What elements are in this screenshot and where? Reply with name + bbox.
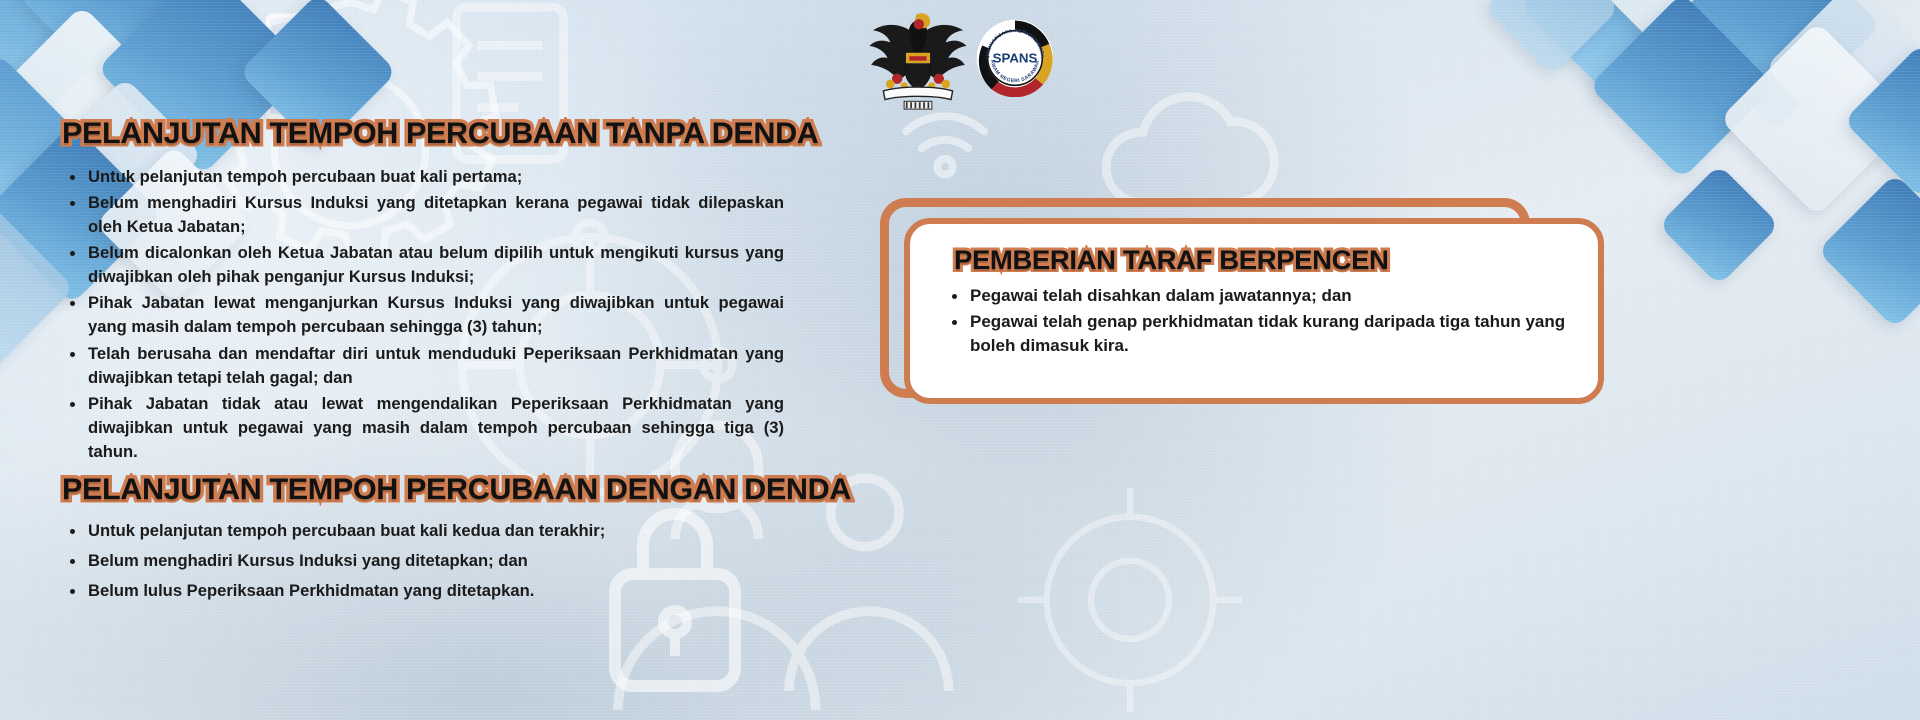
decor-diamond [0,0,135,129]
heading-pemberian-taraf-berpencen: PEMBERIAN TARAF BERPENCEN [954,246,1389,274]
server-rack-icon [258,6,378,126]
sarawak-state-crest-logo [866,6,970,110]
heading-pelanjutan-dengan-denda: PELANJUTAN TEMPOH PERCUBAAN DENGAN DENDA [62,474,851,505]
decor-diamond [1600,0,1775,78]
decor-diamond [1764,0,1920,156]
logo-row: SURUHANJAYA PERKHIDMATAN AWAM NEGERI SAR… [866,6,1054,110]
list-item: Pihak Jabatan tidak atau lewat mengendal… [62,392,784,464]
spans-logo: SURUHANJAYA PERKHIDMATAN AWAM NEGERI SAR… [976,19,1054,97]
bullet-list-dengan-denda: Untuk pelanjutan tempoh percubaan buat k… [62,519,784,603]
list-item: Telah berusaha dan mendaftar diri untuk … [62,342,784,390]
decor-diamond [1669,0,1881,131]
list-item: Belum dicalonkan oleh Ketua Jabatan atau… [62,241,784,289]
decor-diamond [1843,43,1920,199]
decor-diamond [1658,164,1780,286]
list-item: Belum lulus Peperiksaan Perkhidmatan yan… [62,579,784,603]
list-item: Untuk pelanjutan tempoh percubaan buat k… [62,165,784,189]
decor-diamond [1589,0,1776,179]
heading-pelanjutan-tanpa-denda: PELANJUTAN TEMPOH PERCUBAAN TANPA DENDA [62,118,818,149]
list-item: Pegawai telah disahkan dalam jawatannya;… [942,284,1572,309]
bullet-list-berpencen: Pegawai telah disahkan dalam jawatannya;… [942,284,1572,359]
decor-diamond [17,0,201,87]
svg-text:SPANS: SPANS [993,51,1038,66]
settings-gear-icon [1000,470,1260,720]
bullet-list-tanpa-denda: Untuk pelanjutan tempoh percubaan buat k… [62,165,784,464]
decor-diamond [1817,173,1920,329]
decor-diamond [1484,0,1620,76]
list-item: Untuk pelanjutan tempoh percubaan buat k… [62,519,784,543]
list-item: Pegawai telah genap perkhidmatan tidak k… [942,310,1572,359]
list-item: Pihak Jabatan lewat menganjurkan Kursus … [62,291,784,339]
decor-diamond [1719,21,1914,216]
decor-diamond [1519,0,1717,105]
left-content-column: PELANJUTAN TEMPOH PERCUBAAN TANPA DENDA … [62,118,784,609]
banner-canvas: SURUHANJAYA PERKHIDMATAN AWAM NEGERI SAR… [0,0,1920,720]
card-front-panel: PEMBERIAN TARAF BERPENCEN Pegawai telah … [904,218,1604,404]
list-item: Belum menghadiri Kursus Induksi yang dit… [62,549,784,573]
list-item: Belum menghadiri Kursus Induksi yang dit… [62,191,784,239]
pemberian-taraf-berpencen-card: PEMBERIAN TARAF BERPENCEN Pegawai telah … [880,198,1580,420]
